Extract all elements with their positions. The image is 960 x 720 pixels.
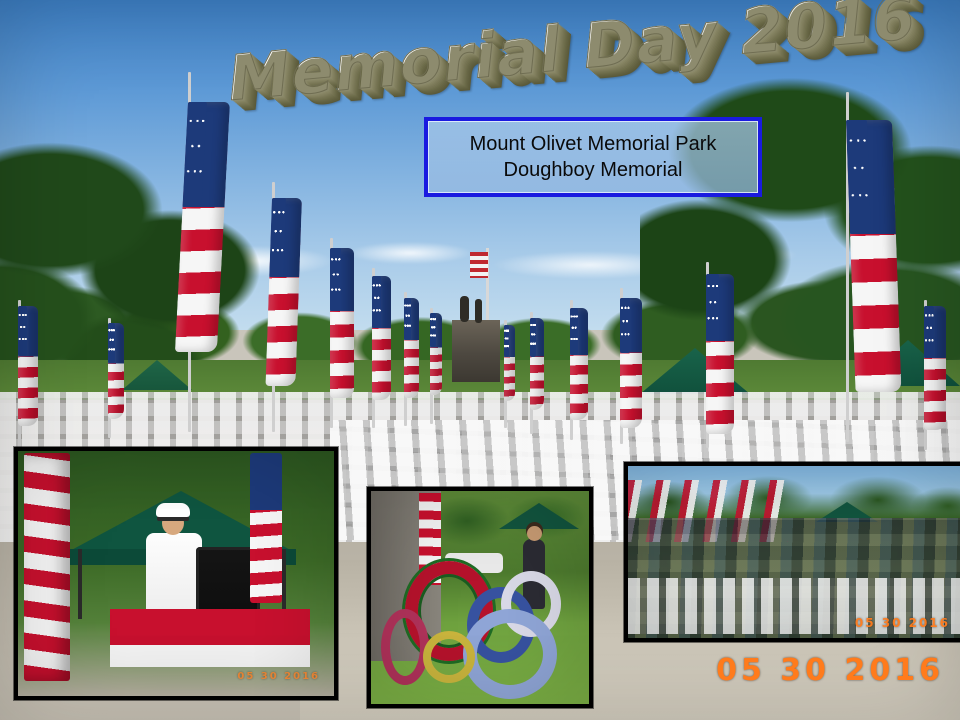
wreath-small-center — [423, 631, 475, 683]
inset-photo-memorial-wreaths — [367, 487, 593, 708]
red-white-drape — [110, 609, 310, 667]
officer-uniform — [146, 533, 202, 619]
date-stamp-main-photo: 05 30 2016 — [716, 653, 944, 688]
inset-photo-seated-crowd: 05 30 2016 — [624, 462, 960, 642]
caption-line-1: Mount Olivet Memorial Park — [470, 131, 717, 157]
caption-box: Mount Olivet Memorial Park Doughboy Memo… — [424, 117, 762, 197]
flag-foreground-left — [24, 453, 70, 681]
officer-cap — [156, 503, 190, 517]
canopy-post-left — [78, 549, 82, 619]
flag-foreground-right — [250, 453, 282, 603]
doughboy-memorial-statue — [452, 320, 500, 382]
date-stamp-crowd-inset: 05 30 2016 — [855, 616, 950, 630]
tree-right — [640, 60, 960, 390]
caption-line-2: Doughboy Memorial — [504, 157, 683, 183]
collage-canvas: 05 30 2016 Memorial Day 2016 Mount Olive… — [0, 0, 960, 720]
date-stamp-speaker-inset: 05 30 2016 — [237, 671, 320, 682]
inset-photo-speaker-at-podium: 05 30 2016 — [14, 447, 338, 700]
wreath-small-left — [381, 609, 429, 685]
wreath-patriotic-large — [463, 609, 557, 699]
